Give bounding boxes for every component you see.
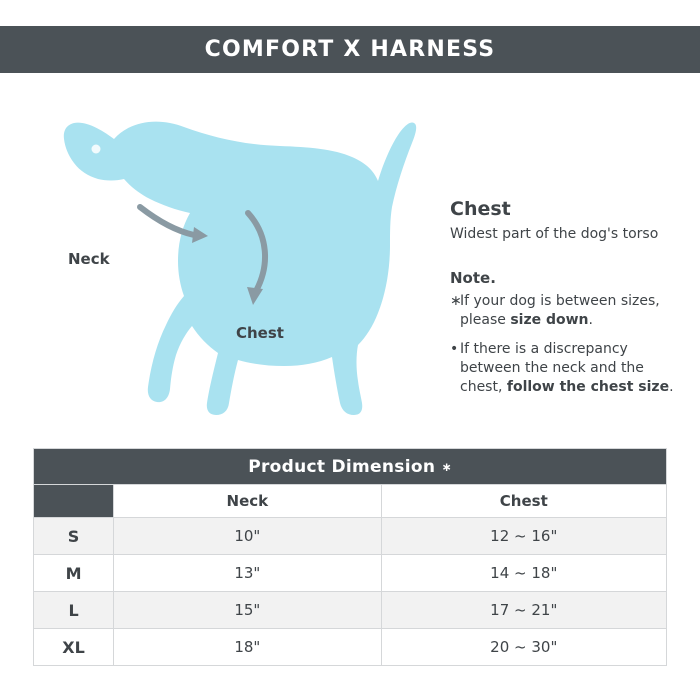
row-0-size: S (34, 518, 114, 555)
table-header-row: Neck Chest (34, 485, 667, 518)
note-2-text-c: . (669, 379, 673, 395)
table-header-chest: Chest (381, 485, 666, 518)
chest-description: Widest part of the dog's torso (450, 225, 690, 243)
chest-heading: Chest (450, 198, 690, 221)
table-header-neck: Neck (114, 485, 381, 518)
table-row: M 13" 14 ~ 18" (34, 555, 667, 592)
note-item-1: ∗ If your dog is between sizes, please s… (450, 292, 690, 330)
row-3-chest: 20 ~ 30" (381, 629, 666, 666)
row-2-size: L (34, 592, 114, 629)
page-title: COMFORT X HARNESS (205, 37, 496, 62)
table-title-cell: Product Dimension ∗ (34, 449, 667, 485)
size-chart-page: COMFORT X HARNESS Neck Chest Chest Wides… (0, 0, 700, 700)
row-1-chest: 14 ~ 18" (381, 555, 666, 592)
note-1-text-c: . (589, 312, 593, 328)
row-0-neck: 10" (114, 518, 381, 555)
table-title-text: Product Dimension (248, 457, 435, 477)
table-header-blank (34, 485, 114, 518)
note-2-marker-icon: • (450, 340, 458, 359)
row-2-chest: 17 ~ 21" (381, 592, 666, 629)
table-title-asterisk-icon: ∗ (441, 460, 451, 474)
table-row: S 10" 12 ~ 16" (34, 518, 667, 555)
note-1-marker-icon: ∗ (450, 292, 462, 311)
product-dimension-table: Product Dimension ∗ Neck Chest S 10" 12 … (33, 448, 667, 666)
info-block: Chest Widest part of the dog's torso Not… (450, 198, 690, 407)
note-2-text-bold: follow the chest size (507, 379, 669, 395)
page-header-bar: COMFORT X HARNESS (0, 26, 700, 73)
row-3-size: XL (34, 629, 114, 666)
row-0-chest: 12 ~ 16" (381, 518, 666, 555)
note-heading: Note. (450, 269, 690, 287)
note-1-text-bold: size down (510, 312, 588, 328)
row-3-neck: 18" (114, 629, 381, 666)
row-2-neck: 15" (114, 592, 381, 629)
illustration-area: Neck Chest Chest Widest part of the dog'… (0, 73, 700, 448)
table-title-row: Product Dimension ∗ (34, 449, 667, 485)
table-row: L 15" 17 ~ 21" (34, 592, 667, 629)
row-1-size: M (34, 555, 114, 592)
label-neck: Neck (68, 250, 110, 268)
label-chest: Chest (236, 324, 284, 342)
row-1-neck: 13" (114, 555, 381, 592)
note-item-2: • If there is a discrepancy between the … (450, 340, 690, 397)
table-row: XL 18" 20 ~ 30" (34, 629, 667, 666)
